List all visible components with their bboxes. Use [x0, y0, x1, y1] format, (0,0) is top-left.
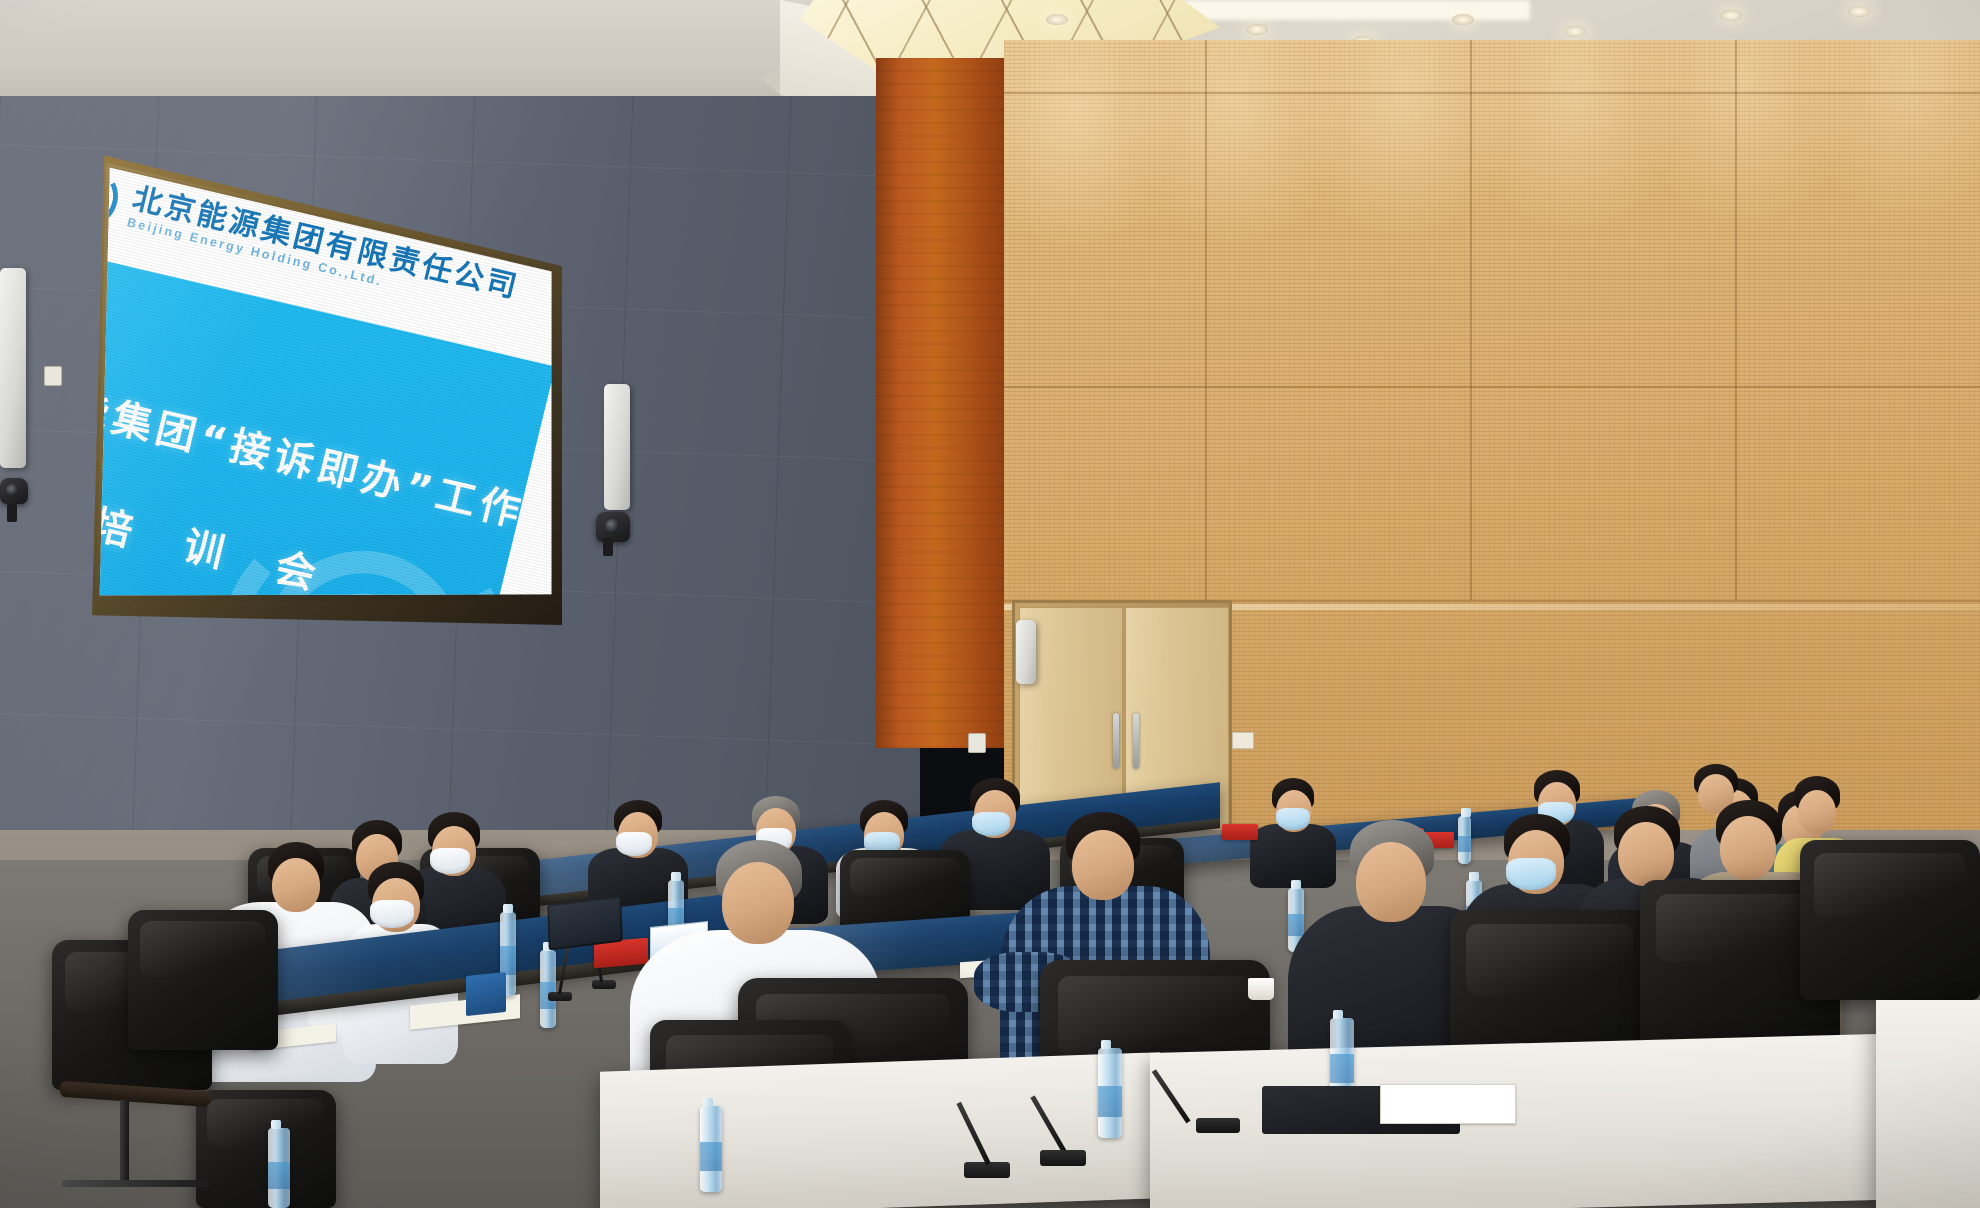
executive-chair[interactable] — [1800, 840, 1980, 1000]
chair-base — [62, 1180, 212, 1187]
dark-wood-accent-column — [876, 58, 1006, 748]
attendee-head — [1356, 842, 1426, 922]
white-conference-table-foreground — [1876, 1000, 1980, 1208]
door-handle-right[interactable] — [1133, 713, 1139, 769]
face-mask — [370, 900, 414, 928]
wall-socket — [968, 733, 986, 753]
wall-seam-vertical — [1470, 40, 1472, 600]
light-switch-plate[interactable] — [1232, 732, 1254, 749]
wall-speaker — [604, 384, 630, 510]
attendee-head — [272, 858, 320, 912]
executive-chair[interactable] — [128, 910, 278, 1050]
bottle-label — [1098, 1086, 1122, 1117]
attendee-head — [1072, 830, 1134, 900]
tablet-device[interactable] — [466, 972, 506, 1016]
downlight — [1046, 14, 1068, 25]
microphone-base — [1196, 1118, 1240, 1133]
conference-room-photo: 北京能源集团有限责任公司 Beijing Energy Holding Co.,… — [0, 0, 1980, 1208]
attendee-head — [722, 862, 794, 944]
wall-seam — [1004, 386, 1980, 388]
wall-speaker — [0, 268, 26, 468]
water-bottle — [540, 950, 556, 1028]
wall-mounted-ptz-camera — [0, 478, 28, 504]
white-conference-table-foreground — [600, 1052, 1160, 1208]
water-bottle — [1098, 1048, 1122, 1138]
monitor-screen — [549, 898, 620, 948]
bottle-label — [1330, 1054, 1354, 1083]
downlight — [1720, 10, 1742, 21]
camera-lens — [6, 484, 19, 497]
water-bottle — [700, 1106, 722, 1192]
led-presentation-screen: 北京能源集团有限责任公司 Beijing Energy Holding Co.,… — [92, 140, 562, 625]
paper-cup — [1248, 978, 1274, 1000]
wall-seam-vertical — [1205, 40, 1207, 600]
door-handle-left[interactable] — [1113, 713, 1119, 769]
wall-seam — [1004, 92, 1980, 94]
downlight — [1452, 14, 1474, 25]
downlight — [1848, 6, 1870, 17]
microphone-base — [1040, 1150, 1086, 1166]
chair-post — [120, 1100, 129, 1186]
wall-mounted-ptz-camera — [596, 512, 630, 542]
wall-speaker — [1016, 620, 1036, 684]
camera-lens — [605, 519, 620, 534]
downlight — [1246, 24, 1268, 35]
bottle-label — [268, 1162, 290, 1189]
wall-socket — [44, 366, 62, 386]
monitor — [547, 896, 623, 951]
bottle-label — [500, 946, 516, 975]
microphone-base — [592, 980, 616, 989]
wall-seam-vertical — [1735, 40, 1737, 600]
bottle-label — [700, 1142, 722, 1171]
attendee-head — [1618, 822, 1674, 886]
face-mask — [1506, 858, 1556, 890]
attendee-head — [1720, 816, 1776, 880]
water-bottle — [268, 1128, 290, 1208]
document-paper — [1380, 1084, 1516, 1124]
executive-chair[interactable] — [196, 1090, 336, 1208]
desk-nameplate-red — [1222, 824, 1258, 840]
downlight — [1564, 26, 1586, 37]
